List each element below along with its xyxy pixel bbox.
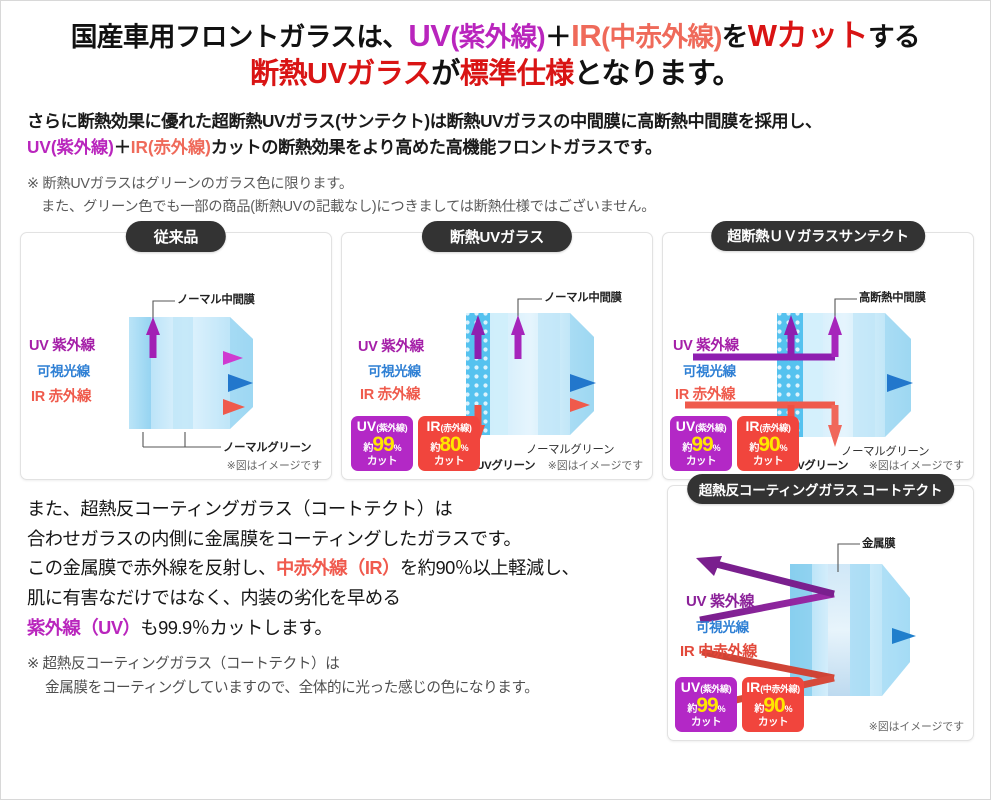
badge-ir-suntect: IR(赤外線) 約90% カット: [737, 416, 799, 471]
page-header: 国産車用フロントガラスは、UV(紫外線)＋IR(中赤外線)をWカットする 断熱U…: [1, 1, 990, 96]
ray-label-ir-conventional: IR 赤外線: [31, 385, 91, 406]
callout-green-heat-shield: ノーマルグリーン: [526, 441, 614, 457]
ray-label-uv-suntect: UV 紫外線: [673, 334, 739, 355]
desc-uv-highlight: 紫外線（UV）: [27, 617, 140, 638]
panel-conventional: 従来品: [20, 232, 332, 480]
headline-plus: ＋: [545, 22, 571, 52]
badge-uv-value: 約99%: [351, 434, 413, 455]
figure-note-suntect: ※図はイメージです: [869, 457, 964, 473]
note-line-2: また、グリーン色でも一部の商品(断熱UVの記載なし)につきましては断熱仕様ではご…: [27, 196, 968, 220]
headline-ir-paren: (中赤外線): [601, 22, 722, 52]
badge-uv-value: 約99%: [670, 434, 732, 455]
figure-note-conventional: ※図はイメージです: [227, 457, 322, 473]
headline-ir: IR: [571, 18, 601, 53]
badges-heat-shield-uv: UV(紫外線) 約99% カット IR(赤外線) 約80% カット: [351, 416, 480, 471]
badge-uv-cut: カット: [670, 456, 732, 467]
coattect-description: また、超熱反コーティングガラス（コートテクト）は 合わせガラスの内側に金属膜をコ…: [27, 494, 657, 741]
badge-uv-cut: カット: [351, 456, 413, 467]
headline-uv-paren: (紫外線): [450, 22, 545, 52]
badge-ir-cut: カット: [742, 717, 804, 728]
headline-prefix: 国産車用フロントガラスは、: [71, 22, 408, 52]
lead-paragraph: さらに断熱効果に優れた超断熱UVガラス(サンテクト)は断熱UVガラスの中間膜に高…: [1, 96, 990, 161]
desc-line-3-a: この金属膜で赤外線を反射し、: [27, 557, 276, 578]
footnote-line-2: 金属膜をコーティングしていますので、全体的に光った感じの色になります。: [27, 677, 657, 700]
badge-uv-coat-tect: UV(紫外線) 約99% カット: [675, 677, 737, 732]
figure-note-heat-shield: ※図はイメージです: [548, 457, 643, 473]
ray-label-ir-suntect: IR 赤外線: [675, 383, 735, 404]
ray-label-visible-heat-shield: 可視光線: [368, 360, 421, 380]
comparison-panels: 従来品: [1, 220, 990, 480]
headline-wcut: Wカット: [748, 18, 868, 53]
badge-ir-cut: カット: [418, 456, 480, 467]
ray-label-uv-heat-shield: UV 紫外線: [358, 335, 424, 356]
badge-ir-value: 約90%: [742, 695, 804, 716]
badge-uv-heat-shield: UV(紫外線) 約99% カット: [351, 416, 413, 471]
badge-ir-heat-shield: IR(赤外線) 約80% カット: [418, 416, 480, 471]
ray-label-uv-coat-tect: UV 紫外線: [686, 590, 754, 611]
note-line-1: ※ 断熱UVガラスはグリーンのガラス色に限ります。: [27, 173, 968, 197]
panel-title-coat-tect: 超熱反コーティングガラス コートテクト: [687, 474, 955, 504]
badge-uv-value: 約99%: [675, 695, 737, 716]
headline-product: 断熱UVガラス: [250, 58, 431, 90]
headline-wo: を: [722, 22, 748, 52]
infographic-page: 国産車用フロントガラスは、UV(紫外線)＋IR(中赤外線)をWカットする 断熱U…: [0, 0, 991, 800]
badge-ir-kind: IR(赤外線): [737, 419, 799, 433]
headline-standard: 標準仕様: [460, 58, 574, 90]
lead-line-1: さらに断熱効果に優れた超断熱UVガラス(サンテクト)は断熱UVガラスの中間膜に高…: [27, 108, 968, 135]
badge-ir-coat-tect: IR(中赤外線) 約90% カット: [742, 677, 804, 732]
desc-line-2: 合わせガラスの内側に金属膜をコーティングしたガラスです。: [27, 524, 657, 554]
lead-plus: ＋: [114, 137, 131, 157]
lead-line-2: UV(紫外線)＋IR(赤外線)カットの断熱効果をより高めた高機能フロントガラスで…: [27, 134, 968, 161]
badge-uv-kind: UV(紫外線): [670, 419, 732, 433]
desc-line-4: 肌に有害なだけではなく、内装の劣化を早める: [27, 583, 657, 613]
badge-ir-kind: IR(中赤外線): [742, 680, 804, 694]
badge-ir-value: 約80%: [418, 434, 480, 455]
headline-ga: が: [431, 58, 460, 90]
lead-uv: UV(紫外線): [27, 137, 114, 157]
coattect-footnote: ※ 超熱反コーティングガラス（コートテクト）は 金属膜をコーティングしていますの…: [27, 653, 657, 700]
desc-line-5-b: も99.9％カットします。: [140, 617, 332, 638]
badge-ir-kind: IR(赤外線): [418, 419, 480, 433]
headline-line-2: 断熱UVガラスが標準仕様となります。: [21, 57, 970, 92]
lead-ir: IR(赤外線): [131, 137, 211, 157]
footnote-line-1: ※ 超熱反コーティングガラス（コートテクト）は: [27, 653, 657, 676]
badge-uv-cut: カット: [675, 717, 737, 728]
ray-label-visible-coat-tect: 可視光線: [696, 616, 749, 636]
panel-heat-shield-uv: 断熱UVガラス: [341, 232, 653, 480]
headline-uv: UV: [408, 18, 450, 53]
panel-title-suntect: 超断熱ＵＶガラスサンテクト: [711, 221, 925, 251]
callout-interlayer-heat-shield: ノーマル中間膜: [544, 289, 622, 305]
callout-metal-film: 金属膜: [862, 535, 895, 551]
badge-uv-kind: UV(紫外線): [351, 419, 413, 433]
badges-suntect: UV(紫外線) 約99% カット IR(赤外線) 約90% カット: [670, 416, 799, 471]
badge-ir-cut: カット: [737, 456, 799, 467]
green-glass-note: ※ 断熱UVガラスはグリーンのガラス色に限ります。 また、グリーン色でも一部の商…: [1, 161, 990, 220]
badge-uv-kind: UV(紫外線): [675, 680, 737, 694]
ray-label-uv-conventional: UV 紫外線: [29, 334, 95, 355]
desc-line-5: 紫外線（UV）も99.9％カットします。: [27, 613, 657, 643]
panel-coat-tect: 超熱反コーティングガラス コートテクト: [667, 485, 974, 741]
callout-interlayer-conventional: ノーマル中間膜: [177, 291, 255, 307]
desc-line-3-b: を約90％以上軽減し、: [400, 557, 579, 578]
desc-line-3: この金属膜で赤外線を反射し、中赤外線（IR）を約90％以上軽減し、: [27, 553, 657, 583]
desc-line-1: また、超熱反コーティングガラス（コートテクト）は: [27, 494, 657, 524]
headline-suffix: する: [868, 22, 920, 52]
headline-tail: となります。: [574, 58, 741, 90]
badge-ir-value: 約90%: [737, 434, 799, 455]
panel-title-conventional: 従来品: [126, 221, 226, 252]
panel-title-heat-shield-uv: 断熱UVガラス: [422, 221, 572, 252]
desc-ir-highlight: 中赤外線（IR）: [276, 557, 400, 578]
headline-line-1: 国産車用フロントガラスは、UV(紫外線)＋IR(中赤外線)をWカットする: [21, 19, 970, 54]
figure-note-coat-tect: ※図はイメージです: [869, 718, 964, 734]
callout-interlayer-suntect: 高断熱中間膜: [859, 289, 926, 305]
badges-coat-tect: UV(紫外線) 約99% カット IR(中赤外線) 約90% カット: [675, 677, 804, 732]
diagram-conventional: UV 紫外線 可視光線 IR 赤外線 ノーマル中間膜 ノーマルグリーン: [25, 255, 327, 475]
lower-section: また、超熱反コーティングガラス（コートテクト）は 合わせガラスの内側に金属膜をコ…: [1, 480, 990, 741]
ray-label-visible-conventional: 可視光線: [37, 360, 90, 380]
ray-label-ir-mid-coat-tect: IR 中赤外線: [680, 640, 757, 661]
badge-uv-suntect: UV(紫外線) 約99% カット: [670, 416, 732, 471]
panel-suntect: 超断熱ＵＶガラスサンテクト: [662, 232, 974, 480]
callout-green-conventional: ノーマルグリーン: [223, 439, 311, 455]
ray-label-ir-heat-shield: IR 赤外線: [360, 383, 420, 404]
ray-label-visible-suntect: 可視光線: [683, 360, 736, 380]
lead-tail: カットの断熱効果をより高めた高機能フロントガラスです。: [211, 137, 662, 157]
